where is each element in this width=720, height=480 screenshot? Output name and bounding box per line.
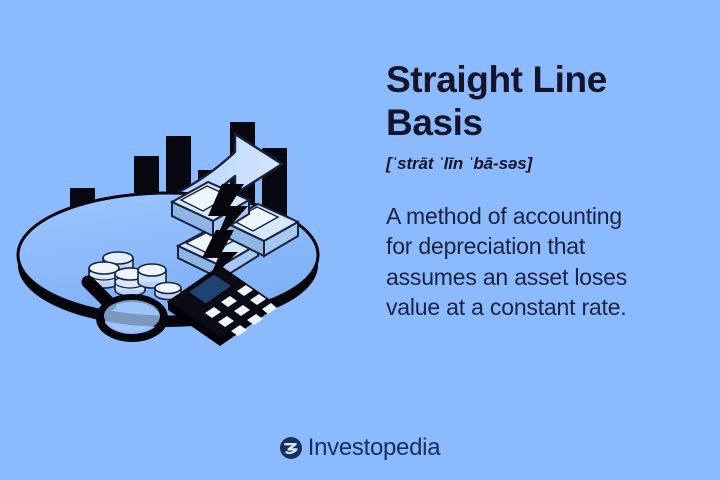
brand-footer: Investopedia <box>0 434 720 462</box>
page-title: Straight Line Basis <box>386 58 696 145</box>
definition-card: Straight Line Basis [ˈstrāt ˈlīn ˈbā-səs… <box>0 0 720 480</box>
investopedia-swoosh-icon <box>280 437 302 459</box>
brand-name: Investopedia <box>308 434 441 462</box>
pronunciation: [ˈstrāt ˈlīn ˈbā-səs] <box>386 154 696 174</box>
term-text-column: Straight Line Basis [ˈstrāt ˈlīn ˈbā-səs… <box>386 58 696 323</box>
definition-text: A method of accounting for depreciation … <box>386 201 696 323</box>
depreciation-desk-illustration <box>0 30 360 360</box>
